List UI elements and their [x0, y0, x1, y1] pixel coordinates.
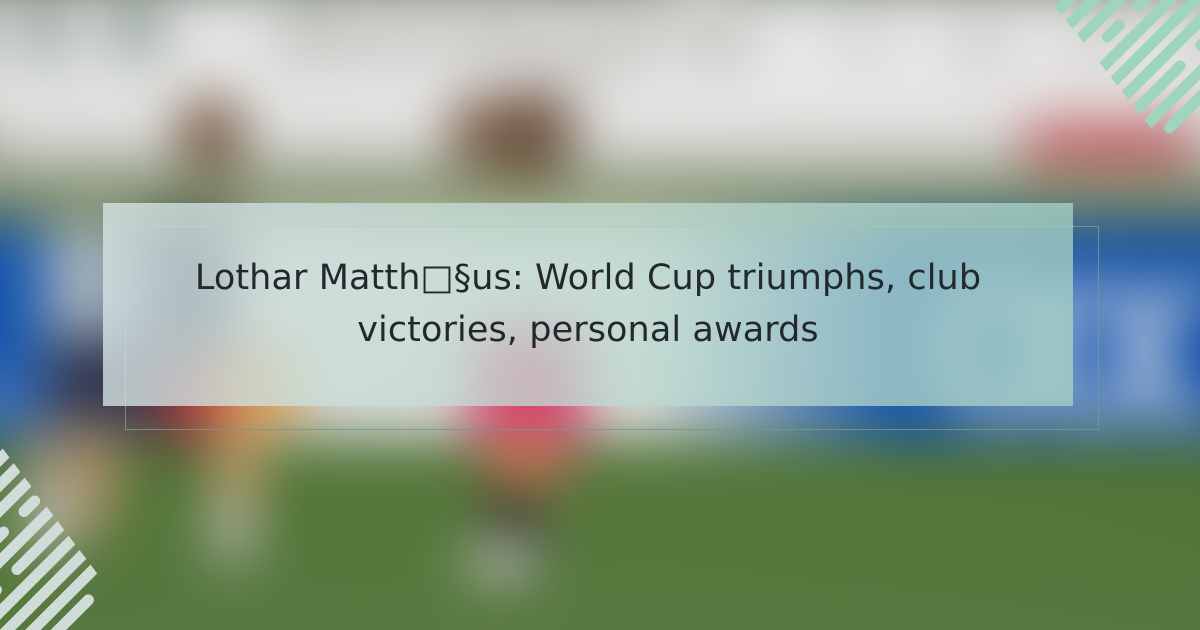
share-card-canvas: BER Bordogna c a s s Lothar Matth□§us: W…	[0, 0, 1200, 630]
headline-card: Lothar Matth□§us: World Cup triumphs, cl…	[103, 203, 1073, 406]
card-headline: Lothar Matth□§us: World Cup triumphs, cl…	[155, 253, 1021, 357]
